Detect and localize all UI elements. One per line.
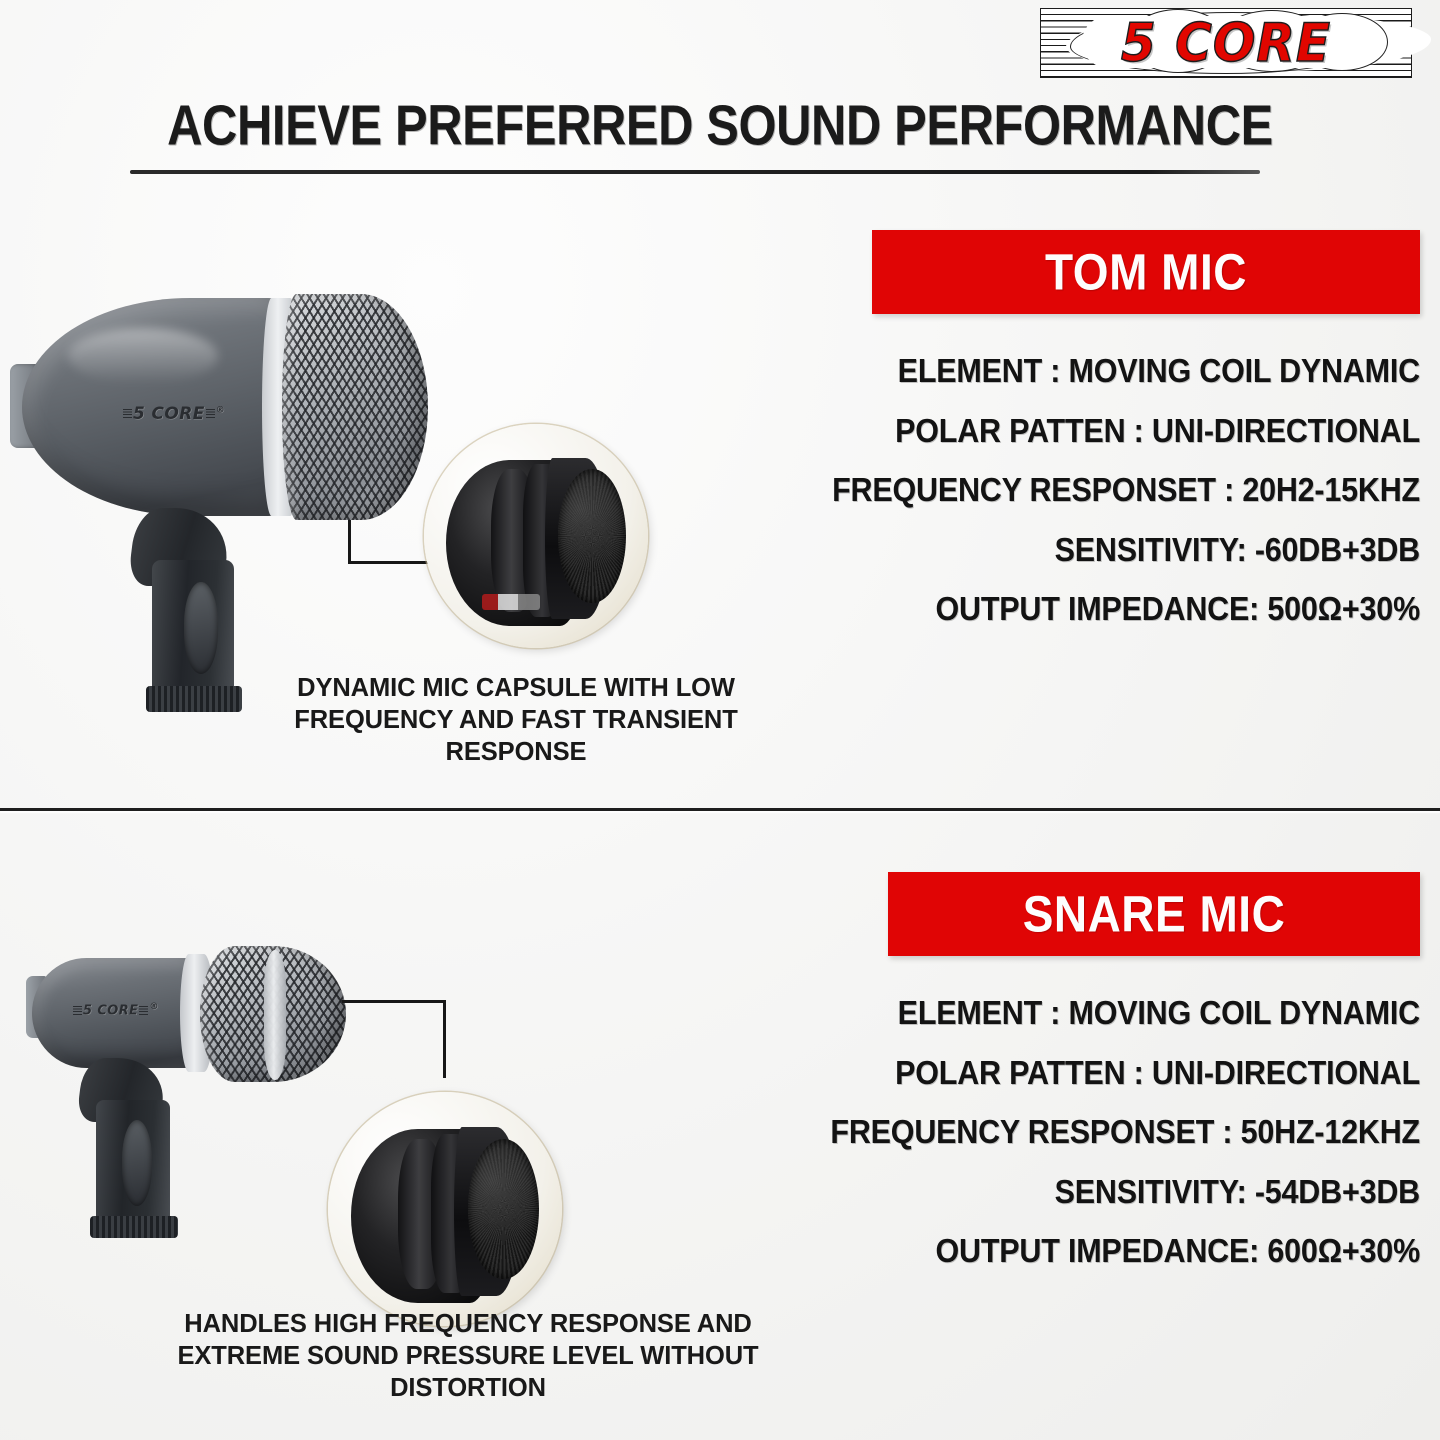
spec-value: MOVING COIL DYNAMIC <box>1069 994 1420 1031</box>
title-underline <box>130 170 1260 174</box>
snare-capsule-closeup <box>328 1092 562 1326</box>
tom-capsule-closeup <box>424 424 648 648</box>
mic-clip-slot <box>184 582 218 674</box>
mic-body-brand-logo: 5 CORE® <box>122 404 225 424</box>
spec-value: MOVING COIL DYNAMIC <box>1069 352 1420 389</box>
tom-spec-panel: TOM MIC ELEMENT : MOVING COIL DYNAMIC PO… <box>760 230 1420 654</box>
spec-row: OUTPUT IMPEDANCE: 500Ω+30% <box>760 592 1420 626</box>
spec-label: OUTPUT IMPEDANCE: <box>935 590 1267 627</box>
snare-leader-line-vertical <box>443 1000 446 1078</box>
spec-row: SENSITIVITY: -60DB+3DB <box>760 533 1420 567</box>
spec-value: UNI-DIRECTIONAL <box>1152 412 1420 449</box>
spec-label: ELEMENT : <box>898 352 1069 389</box>
tom-section-header-label: TOM MIC <box>1045 242 1247 301</box>
spec-label: OUTPUT IMPEDANCE: <box>935 1232 1267 1269</box>
spec-row: FREQUENCY RESPONSET : 20H2-15KHZ <box>760 473 1420 507</box>
spec-value: 50HZ-12KHZ <box>1241 1113 1420 1150</box>
mic-clip-threaded-base <box>90 1216 178 1238</box>
snare-section-header-label: SNARE MIC <box>1023 884 1286 943</box>
spec-row: POLAR PATTEN : UNI-DIRECTIONAL <box>760 1056 1420 1090</box>
spec-label: SENSITIVITY: <box>1055 531 1255 568</box>
snare-spec-panel: SNARE MIC ELEMENT : MOVING COIL DYNAMIC … <box>760 872 1420 1296</box>
spec-value: 20H2-15KHZ <box>1242 471 1420 508</box>
section-divider <box>0 808 1440 811</box>
spec-label: ELEMENT : <box>898 994 1069 1031</box>
spec-value: -54DB+3DB <box>1255 1173 1420 1210</box>
spec-row: FREQUENCY RESPONSET : 50HZ-12KHZ <box>760 1115 1420 1149</box>
mic-grille-band <box>264 950 286 1080</box>
spec-row: OUTPUT IMPEDANCE: 600Ω+30% <box>760 1234 1420 1268</box>
spec-label: FREQUENCY RESPONSET : <box>830 1113 1240 1150</box>
snare-mic-photo: 5 CORE® <box>4 940 394 1280</box>
tom-leader-line-vertical <box>348 520 351 564</box>
spec-label: POLAR PATTEN : <box>895 1054 1152 1091</box>
mic-body-highlight <box>68 328 218 384</box>
spec-row: ELEMENT : MOVING COIL DYNAMIC <box>760 354 1420 388</box>
snare-section-header: SNARE MIC <box>888 872 1420 956</box>
snare-spec-list: ELEMENT : MOVING COIL DYNAMIC POLAR PATT… <box>760 998 1420 1267</box>
spec-value: -60DB+3DB <box>1255 531 1420 568</box>
spec-label: POLAR PATTEN : <box>895 412 1152 449</box>
mic-body-brand-logo: 5 CORE® <box>72 1002 159 1018</box>
infographic-page: 5 CORE ACHIEVE PREFERRED SOUND PERFORMAN… <box>0 0 1440 1440</box>
capsule-solder-detail <box>482 594 540 610</box>
spec-label: SENSITIVITY: <box>1055 1173 1255 1210</box>
spec-value: UNI-DIRECTIONAL <box>1152 1054 1420 1091</box>
logo-text: 5 CORE <box>1040 8 1412 78</box>
tom-mic-photo: 5 CORE® <box>4 286 434 726</box>
spec-label: FREQUENCY RESPONSET : <box>832 471 1242 508</box>
snare-caption: HANDLES HIGH FREQUENCY RESPONSE AND EXTR… <box>172 1308 764 1404</box>
tom-section-header: TOM MIC <box>872 230 1420 314</box>
spec-row: SENSITIVITY: -54DB+3DB <box>760 1175 1420 1209</box>
mic-mesh-grille <box>282 294 428 520</box>
snare-leader-line-horizontal <box>342 1000 446 1003</box>
brand-logo: 5 CORE <box>1040 8 1412 78</box>
capsule-diaphragm-face <box>558 469 625 603</box>
spec-value: 500Ω+30% <box>1267 590 1420 627</box>
tom-caption: DYNAMIC MIC CAPSULE WITH LOW FREQUENCY A… <box>290 672 742 768</box>
mic-clip-slot <box>122 1120 152 1206</box>
spec-value: 600Ω+30% <box>1267 1232 1420 1269</box>
spec-row: POLAR PATTEN : UNI-DIRECTIONAL <box>760 414 1420 448</box>
page-title: ACHIEVE PREFERRED SOUND PERFORMANCE <box>43 94 1397 159</box>
mic-clip-threaded-base <box>146 686 242 712</box>
spec-row: ELEMENT : MOVING COIL DYNAMIC <box>760 996 1420 1030</box>
tom-spec-list: ELEMENT : MOVING COIL DYNAMIC POLAR PATT… <box>760 356 1420 625</box>
capsule-diaphragm-face <box>468 1139 538 1279</box>
